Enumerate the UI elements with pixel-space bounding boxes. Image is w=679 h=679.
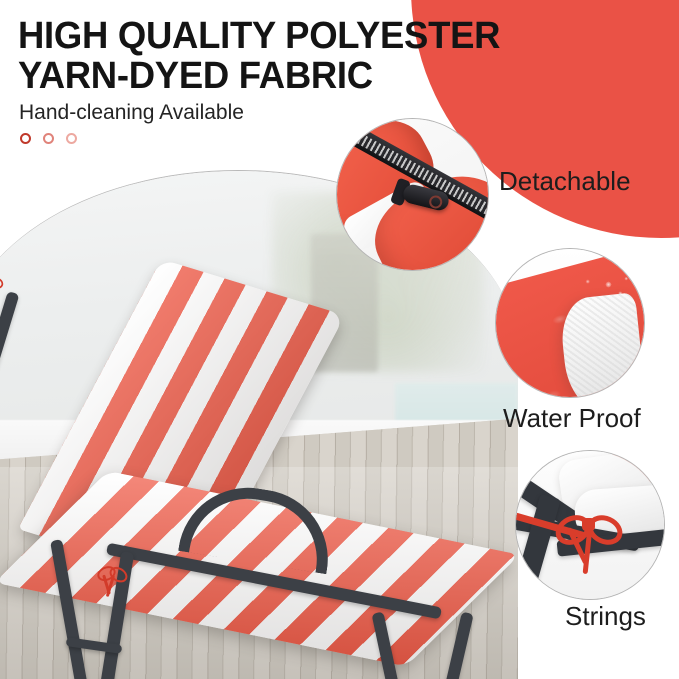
red-string-bow-knot-icon xyxy=(569,504,617,552)
dot-2-icon xyxy=(43,133,54,144)
dot-1-icon xyxy=(20,133,31,144)
dot-3-icon xyxy=(66,133,77,144)
white-towel xyxy=(558,293,645,398)
decorative-dots xyxy=(20,133,77,144)
feature-label-strings: Strings xyxy=(565,601,646,631)
backrest-frame-bar xyxy=(0,291,19,534)
feature-label-water-proof: Water Proof xyxy=(503,403,641,433)
feature-image-strings xyxy=(515,450,665,600)
feature-image-water-proof xyxy=(495,248,645,398)
red-tie-string-middle-icon xyxy=(97,560,125,588)
feature-label-detachable: Detachable xyxy=(499,166,631,196)
page-title: HIGH QUALITY POLYESTER YARN-DYED FABRIC xyxy=(18,16,618,96)
product-feature-poster: HIGH QUALITY POLYESTER YARN-DYED FABRIC … xyxy=(0,0,679,679)
title-line-1: HIGH QUALITY POLYESTER xyxy=(18,16,594,56)
red-tie-string-top-icon xyxy=(0,271,2,297)
title-line-2: YARN-DYED FABRIC xyxy=(18,56,594,96)
feature-image-detachable xyxy=(336,118,489,271)
subtitle: Hand-cleaning Available xyxy=(19,100,244,126)
